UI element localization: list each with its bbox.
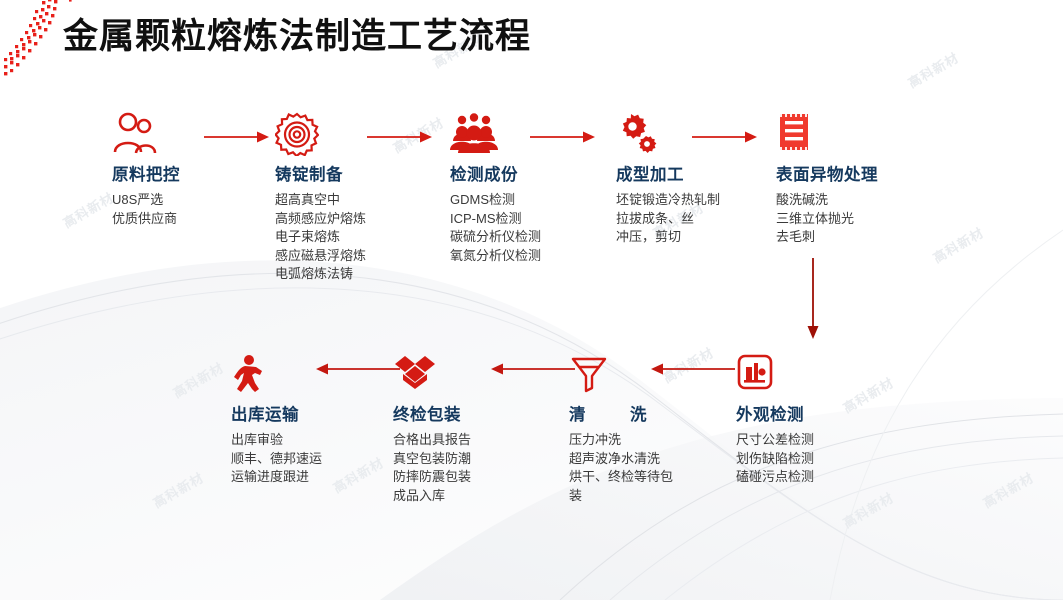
step-detail-line: GDMS检测 — [450, 191, 630, 210]
step-detail-line: 电子束熔炼 — [275, 228, 455, 247]
walking-person-icon — [231, 352, 265, 396]
step-detail-list: GDMS检测 ICP-MS检测 碳硫分析仪检测 氧氮分析仪检测 — [450, 191, 630, 265]
step-title: 铸锭制备 — [275, 161, 455, 185]
step-detail-line: 超声波净水清洗 — [569, 450, 749, 469]
flow-step-6[interactable]: 外观检测 尺寸公差检测 划伤缺陷检测 磕碰污点检测 — [736, 352, 916, 487]
users-icon — [112, 112, 158, 156]
step-detail-line: 坯锭锻造冷热轧制 — [616, 191, 796, 210]
step-detail-line: 划伤缺陷检测 — [736, 450, 916, 469]
step-detail-line: 超高真空中 — [275, 191, 455, 210]
step-detail-line: 冲压，剪切 — [616, 228, 796, 247]
funnel-icon — [569, 352, 609, 396]
step-detail-line: 烘干、终检等待包装 — [569, 468, 677, 505]
step-detail-line: 防摔防震包装 — [393, 468, 573, 487]
step-detail-list: 压力冲洗 超声波净水清洗 烘干、终检等待包装 — [569, 431, 749, 505]
step-detail-line: ICP-MS检测 — [450, 210, 630, 229]
step-detail-list: 尺寸公差检测 划伤缺陷检测 磕碰污点检测 — [736, 431, 916, 487]
watermark: 高科新材 — [839, 487, 897, 531]
step-detail-line: 感应磁悬浮熔炼 — [275, 247, 455, 266]
flow-step-1[interactable]: 原料把控 U8S严选 优质供应商 — [112, 112, 292, 228]
step-title: 成型加工 — [616, 161, 796, 185]
page-title: 金属颗粒熔炼法制造工艺流程 — [63, 8, 531, 59]
people-group-icon — [450, 112, 498, 156]
step-detail-line: 优质供应商 — [112, 210, 292, 229]
step-detail-list: 酸洗碱洗 三维立体抛光 去毛刺 — [776, 191, 956, 247]
step-title: 表面异物处理 — [776, 161, 956, 185]
step-detail-line: 尺寸公差检测 — [736, 431, 916, 450]
step-detail-line: 磕碰污点检测 — [736, 468, 916, 487]
step-title: 原料把控 — [112, 161, 292, 185]
step-detail-line: 电弧熔炼法铸 — [275, 265, 455, 284]
step-detail-line: 碳硫分析仪检测 — [450, 228, 630, 247]
step-detail-list: U8S严选 优质供应商 — [112, 191, 292, 228]
step-detail-line: 运输进度跟进 — [231, 468, 411, 487]
step-title: 检测成份 — [450, 161, 630, 185]
watermark: 高科新材 — [904, 47, 962, 91]
watermark: 高科新材 — [149, 467, 207, 511]
watermark: 高科新材 — [59, 187, 117, 231]
step-title: 外观检测 — [736, 401, 916, 425]
watermark: 高科新材 — [169, 357, 227, 401]
step-detail-line: 压力冲洗 — [569, 431, 749, 450]
step-detail-line: 高频感应炉熔炼 — [275, 210, 455, 229]
step-detail-line: 合格出具报告 — [393, 431, 573, 450]
step-detail-line: U8S严选 — [112, 191, 292, 210]
step-title: 出库运输 — [231, 401, 411, 425]
flow-step-4[interactable]: 成型加工 坯锭锻造冷热轧制 拉拔成条、丝 冲压，剪切 — [616, 112, 796, 247]
flow-step-9[interactable]: 出库运输 出库审验 顺丰、德邦速运 运输进度跟进 — [231, 352, 411, 487]
step-detail-line: 去毛刺 — [776, 228, 956, 247]
step-detail-line: 三维立体抛光 — [776, 210, 956, 229]
step-detail-line: 出库审验 — [231, 431, 411, 450]
step-detail-list: 合格出具报告 真空包装防潮 防摔防震包装 成品入库 — [393, 431, 573, 505]
flow-step-5[interactable]: 表面异物处理 酸洗碱洗 三维立体抛光 去毛刺 — [776, 112, 956, 247]
step-title: 终检包装 — [393, 401, 573, 425]
step-detail-line: 真空包装防潮 — [393, 450, 573, 469]
flow-step-3[interactable]: 检测成份 GDMS检测 ICP-MS检测 碳硫分析仪检测 氧氮分析仪检测 — [450, 112, 630, 265]
step-detail-line: 氧氮分析仪检测 — [450, 247, 630, 266]
document-lines-icon — [776, 112, 812, 156]
gears-icon — [616, 112, 658, 156]
arrow-step5-to-step6 — [805, 258, 821, 342]
flow-step-8[interactable]: 终检包装 合格出具报告 真空包装防潮 防摔防震包装 成品入库 — [393, 352, 573, 505]
step-detail-list: 超高真空中 高频感应炉熔炼 电子束熔炼 感应磁悬浮熔炼 电弧熔炼法铸 — [275, 191, 455, 284]
step-detail-line: 顺丰、德邦速运 — [231, 450, 411, 469]
step-detail-list: 出库审验 顺丰、德邦速运 运输进度跟进 — [231, 431, 411, 487]
flow-step-2[interactable]: 铸锭制备 超高真空中 高频感应炉熔炼 电子束熔炼 感应磁悬浮熔炼 电弧熔炼法铸 — [275, 112, 455, 284]
step-detail-line: 成品入库 — [393, 487, 573, 506]
gear-target-icon — [275, 112, 319, 156]
step-detail-list: 坯锭锻造冷热轧制 拉拔成条、丝 冲压，剪切 — [616, 191, 796, 247]
watermark: 高科新材 — [979, 467, 1037, 511]
step-title: 清 洗 — [569, 401, 749, 425]
step-detail-line: 酸洗碱洗 — [776, 191, 956, 210]
step-detail-line: 拉拔成条、丝 — [616, 210, 796, 229]
flow-step-7[interactable]: 清 洗 压力冲洗 超声波净水清洗 烘干、终检等待包装 — [569, 352, 749, 505]
